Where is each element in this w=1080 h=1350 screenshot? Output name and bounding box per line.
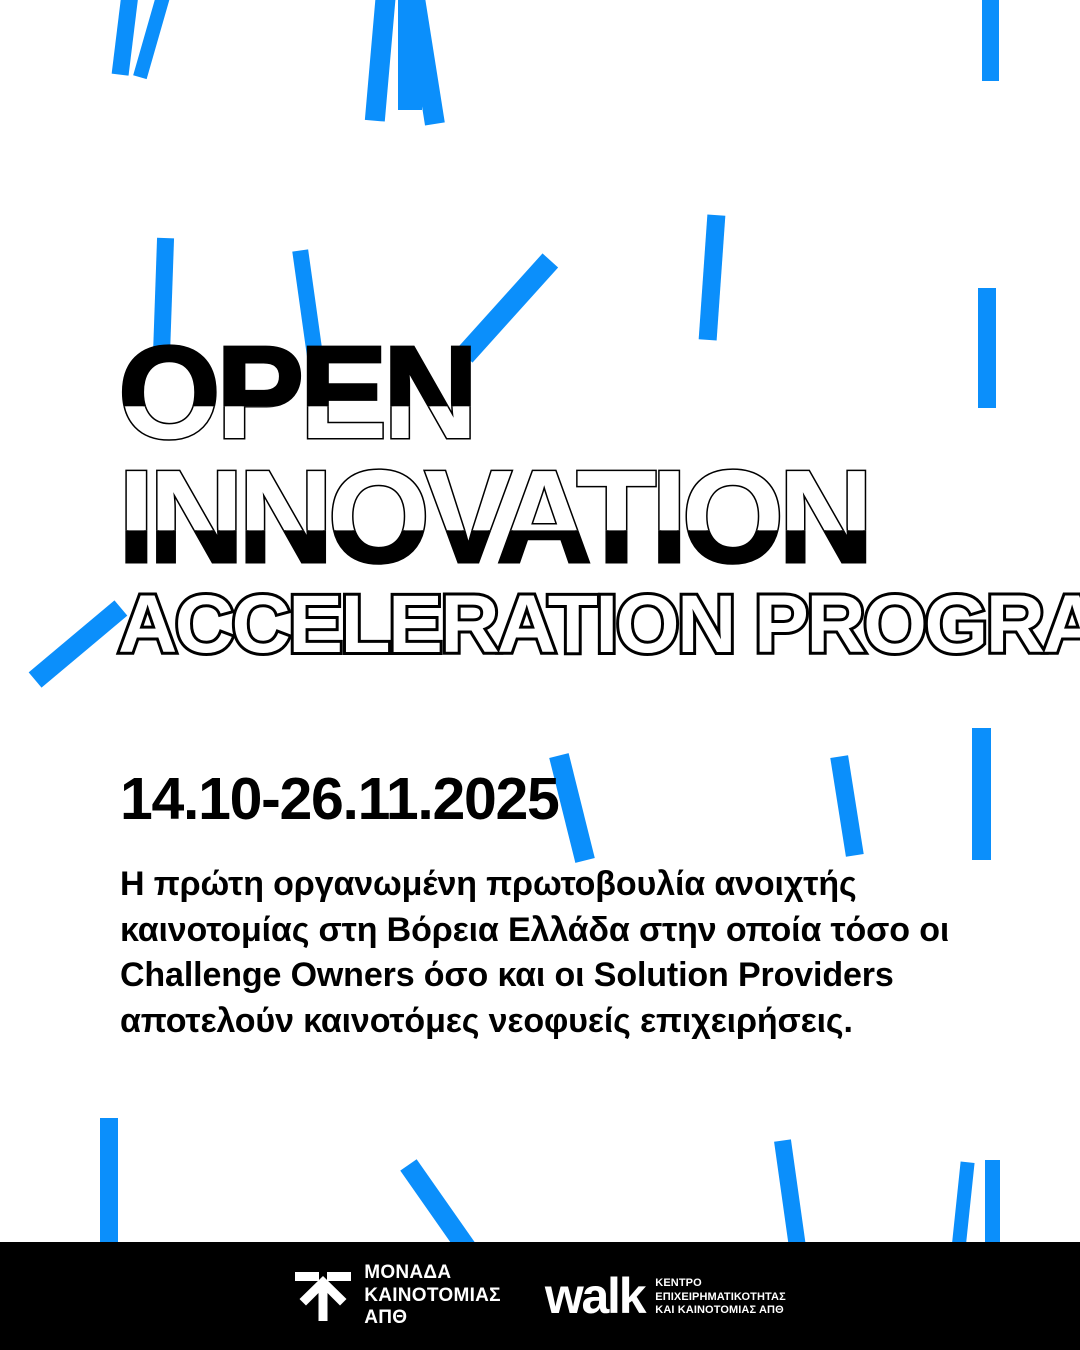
body-paragraph: Η πρώτη οργανωμένη πρωτοβουλία ανοιχτής …: [120, 862, 1000, 1044]
body-line-4: αποτελούν καινοτόμες νεοφυείς επιχειρήσε…: [120, 999, 1000, 1045]
decor-stroke: [972, 728, 991, 860]
decor-stroke: [830, 755, 863, 857]
headline-line-acceleration-program: ACCELERATION PROGRAM ACCELERATION PROGRA…: [118, 590, 1018, 670]
footer-bar: ΜΟΝΑΔΑ ΚΑΙΝΟΤΟΜΙΑΣ ΑΠΘ walk ΚΕΝΤΡΟ ΕΠΙΧΕ…: [0, 1242, 1080, 1350]
headline-line-open: OPEN OPEN OPEN: [118, 336, 1018, 454]
headline-accel-inner: ACCELERATION PROGRAM: [118, 590, 1080, 661]
decor-stroke: [100, 1118, 118, 1253]
decor-stroke: [774, 1139, 807, 1255]
auth-logo-text: ΜΟΝΑΔΑ ΚΑΙΝΟΤΟΜΙΑΣ ΑΠΘ: [364, 1262, 501, 1329]
event-date: 14.10-26.11.2025: [120, 765, 559, 833]
auth-innovation-unit-logo: ΜΟΝΑΔΑ ΚΑΙΝΟΤΟΜΙΑΣ ΑΠΘ: [294, 1262, 501, 1329]
decor-stroke: [982, 0, 999, 81]
walk-center-logo: walk ΚΕΝΤΡΟ ΕΠΙΧΕΙΡΗΜΑΤΙΚΟΤΗΤΑΣ ΚΑΙ ΚΑΙΝ…: [545, 1271, 786, 1321]
body-line-1: Η πρώτη οργανωμένη πρωτοβουλία ανοιχτής: [120, 862, 1000, 908]
walk-logo-text: ΚΕΝΤΡΟ ΕΠΙΧΕΙΡΗΜΑΤΙΚΟΤΗΤΑΣ ΚΑΙ ΚΑΙΝΟΤΟΜΙ…: [655, 1274, 786, 1319]
decor-stroke: [951, 1162, 974, 1251]
decor-stroke: [133, 0, 173, 79]
decor-stroke: [365, 0, 399, 122]
decor-stroke: [985, 1160, 1000, 1252]
body-line-3: Challenge Owners όσο και οι Solution Pro…: [120, 953, 1000, 999]
poster-canvas: OPEN OPEN OPEN INNOVATION INNOVATION INN…: [0, 0, 1080, 1350]
headline-line-innovation: INNOVATION INNOVATION INNOVATION: [118, 460, 1018, 580]
decor-stroke: [399, 0, 445, 126]
auth-logo-line-1: ΜΟΝΑΔΑ: [364, 1262, 501, 1284]
walk-logo-line-1: ΚΕΝΤΡΟ: [655, 1277, 786, 1291]
decor-stroke: [699, 215, 726, 341]
decorative-strokes-layer: [0, 0, 1080, 1350]
auth-logo-line-2: ΚΑΙΝΟΤΟΜΙΑΣ: [364, 1285, 501, 1307]
decor-stroke: [398, 0, 422, 110]
walk-wordmark: walk: [545, 1271, 644, 1321]
headline-block: OPEN OPEN OPEN INNOVATION INNOVATION INN…: [118, 336, 1018, 670]
walk-logo-line-3: ΚΑΙ ΚΑΙΝΟΤΟΜΙΑΣ ΑΠΘ: [655, 1304, 786, 1318]
up-arrow-mark-icon: [294, 1270, 352, 1322]
walk-logo-line-2: ΕΠΙΧΕΙΡΗΜΑΤΙΚΟΤΗΤΑΣ: [655, 1291, 786, 1305]
body-line-2: καινοτομίας στη Βόρεια Ελλάδα στην οποία…: [120, 908, 1000, 954]
decor-stroke: [112, 0, 142, 76]
auth-logo-line-3: ΑΠΘ: [364, 1307, 501, 1329]
decor-stroke: [29, 600, 128, 687]
